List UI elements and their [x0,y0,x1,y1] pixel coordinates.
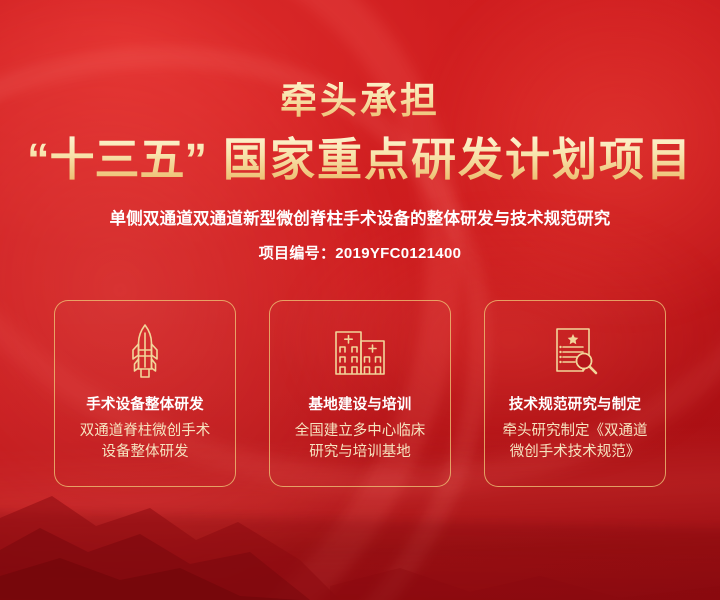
headline-main-term: 国家重点研发计划项目 [223,134,693,185]
card-description-line-1: 全国建立多中心临床 [295,423,426,439]
card-description-line-2: 设备整体研发 [102,444,189,460]
card-description-line-2: 微创手术技术规范》 [510,444,641,460]
project-number: 项目编号：2019YFC0121400 [0,242,720,263]
highlight-card-list: 手术设备整体研发 双通道脊柱微创手术 设备整体研发 [54,300,666,487]
headline-line-2: “十三五”国家重点研发计划项目 [0,136,720,183]
hospital-building-icon [332,323,388,381]
rocket-icon [125,323,165,381]
card-description-line-1: 双通道脊柱微创手术 [80,423,211,439]
headline-line-1: 牵头承担 [0,82,720,119]
poster-subtitle: 单侧双通道双通道新型微创脊柱手术设备的整体研发与技术规范研究 [0,205,720,229]
project-number-value: 2019YFC0121400 [335,245,461,262]
highlight-card-equipment-rd[interactable]: 手术设备整体研发 双通道脊柱微创手术 设备整体研发 [54,300,236,487]
project-number-label: 项目编号： [259,245,336,262]
card-title: 技术规范研究与制定 [509,393,641,414]
headline-quoted-term: “十三五” [27,134,207,185]
card-description: 牵头研究制定《双通道 微创手术技术规范》 [493,421,658,463]
card-title: 手术设备整体研发 [86,393,204,414]
background-shadow-band [0,511,720,600]
card-description-line-1: 牵头研究制定《双通道 [503,423,648,439]
poster-root: 牵头承担 “十三五”国家重点研发计划项目 单侧双通道双通道新型微创脊柱手术设备的… [0,0,720,600]
document-review-icon [549,323,601,381]
card-description: 双通道脊柱微创手术 设备整体研发 [70,421,221,463]
poster-header: 牵头承担 “十三五”国家重点研发计划项目 单侧双通道双通道新型微创脊柱手术设备的… [0,82,720,263]
highlight-card-standard-making[interactable]: 技术规范研究与制定 牵头研究制定《双通道 微创手术技术规范》 [484,300,666,487]
card-title: 基地建设与培训 [309,393,412,414]
highlight-card-base-training[interactable]: 基地建设与培训 全国建立多中心临床 研究与培训基地 [269,300,451,487]
card-description: 全国建立多中心临床 研究与培训基地 [285,421,436,463]
card-description-line-2: 研究与培训基地 [309,444,411,460]
